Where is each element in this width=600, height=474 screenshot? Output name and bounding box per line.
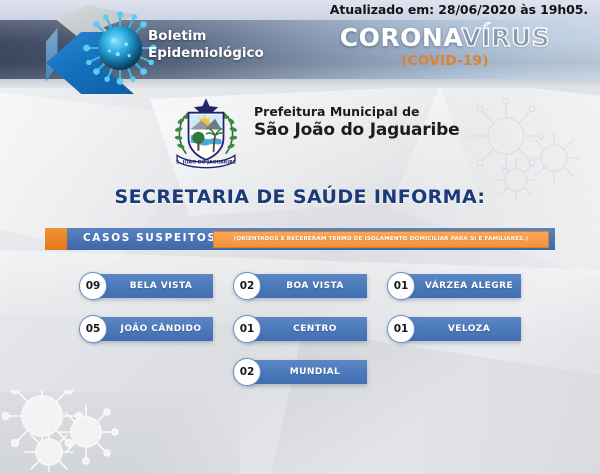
coronavirus-wordmark: CORONAVÍRUS [330,24,560,52]
case-count: 02 [233,358,261,386]
neighborhood-name: BOA VISTA [263,274,367,298]
banner-accent-block [45,228,67,250]
case-row: 02 MUNDIAL [0,358,600,386]
page-title: SECRETARIA DE SAÚDE INFORMA: [0,186,600,208]
case-pill-veloza[interactable]: 01 VELOZA [387,315,521,343]
case-count: 05 [79,315,107,343]
case-row: 05 JOÃO CÂNDIDO 01 CENTRO 01 VELOZA [0,315,600,343]
case-pill-bela-vista[interactable]: 09 BELA VISTA [79,272,213,300]
coronavirus-heading: CORONAVÍRUS (COVID-19) [330,24,560,69]
case-count: 01 [233,315,261,343]
last-updated-label: Atualizado em: 28/06/2020 às 19h05. [330,2,588,17]
municipality-prefix: Prefeitura Municipal de [254,104,459,119]
isolation-note-box: (ORIENTADOS E RECERERAM TERMO DE ISOLAME… [213,231,549,248]
virus-watermark-icon [2,390,152,472]
covid19-label: (COVID-19) [330,53,560,69]
case-pill-varzea-alegre[interactable]: 01 VÁRZEA ALEGRE [387,272,521,300]
neighborhood-name: VELOZA [417,317,521,341]
epidemiological-bulletin-poster: Atualizado em: 28/06/2020 às 19h05. [0,0,600,474]
case-row: 09 BELA VISTA 02 BOA VISTA 01 VÁRZEA ALE… [0,272,600,300]
case-count: 01 [387,315,415,343]
case-pill-mundial[interactable]: 02 MUNDIAL [233,358,367,386]
neighborhood-name: MUNDIAL [263,360,367,384]
virus-watermark-icon [454,96,594,200]
case-count: 02 [233,272,261,300]
neighborhood-name: JOÃO CÂNDIDO [109,317,213,341]
neighborhood-name: CENTRO [263,317,367,341]
case-pill-centro[interactable]: 01 CENTRO [233,315,367,343]
bulletin-logo [38,2,156,100]
municipality-name: São João do Jaguaribe [254,120,459,140]
case-pill-joao-candido[interactable]: 05 JOÃO CÂNDIDO [79,315,213,343]
corona-word: CORONA [340,23,462,52]
municipality-name-block: Prefeitura Municipal de São João do Jagu… [254,104,459,140]
neighborhood-name: VÁRZEA ALEGRE [417,274,521,298]
case-count: 01 [387,272,415,300]
municipality-identity: S. JOÃO DO JAGUARIBE Prefeitura Municipa… [168,96,468,172]
bulletin-title-line1: Boletim [148,28,264,45]
case-count: 09 [79,272,107,300]
neighborhood-name: BELA VISTA [109,274,213,298]
virus-word: VÍRUS [461,23,550,52]
neighborhood-case-grid: 09 BELA VISTA 02 BOA VISTA 01 VÁRZEA ALE… [0,272,600,386]
suspected-cases-label: CASOS SUSPEITOS: [83,232,222,244]
coat-of-arms-icon: S. JOÃO DO JAGUARIBE [168,96,244,172]
case-pill-boa-vista[interactable]: 02 BOA VISTA [233,272,367,300]
background-facet [0,392,240,474]
virus-icon [82,8,158,88]
bulletin-title-line2: Epidemiológico [148,45,264,62]
isolation-note-text: (ORIENTADOS E RECERERAM TERMO DE ISOLAME… [234,236,529,242]
bulletin-title: Boletim Epidemiológico [148,28,264,62]
suspected-cases-banner: CASOS SUSPEITOS: (ORIENTADOS E RECERERAM… [45,228,555,250]
